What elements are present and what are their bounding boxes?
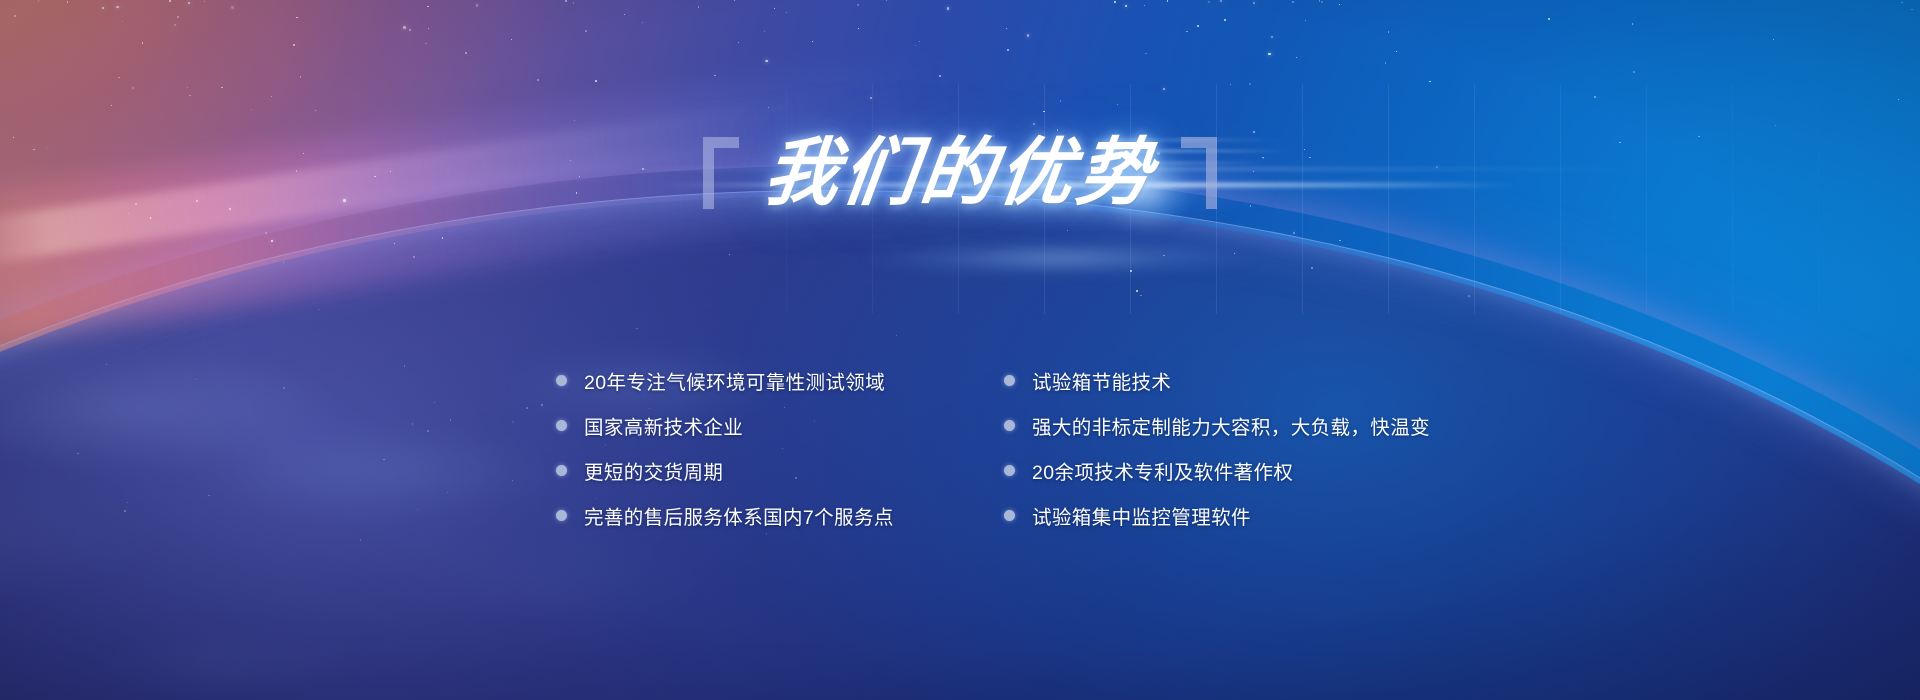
bullet-dot-icon	[556, 465, 567, 476]
advantage-item: 更短的交货周期	[556, 448, 936, 493]
bullet-dot-icon	[556, 510, 567, 521]
advantage-label: 20年专注气候环境可靠性测试领域	[584, 366, 885, 395]
advantage-label: 国家高新技术企业	[584, 411, 743, 440]
advantage-item: 试验箱集中监控管理软件	[1004, 493, 1516, 538]
bullet-dot-icon	[1004, 465, 1015, 476]
advantages-column-right: 试验箱节能技术 强大的非标定制能力大容积，大负载，快温变 20余项技术专利及软件…	[1004, 358, 1516, 538]
advantage-label: 试验箱节能技术	[1032, 366, 1171, 395]
advantages-column-left: 20年专注气候环境可靠性测试领域 国家高新技术企业 更短的交货周期 完善的售后服…	[556, 358, 936, 538]
advantage-item: 试验箱节能技术	[1004, 358, 1516, 403]
advantage-item: 20余项技术专利及软件著作权	[1004, 448, 1516, 493]
advantages-columns: 20年专注气候环境可靠性测试领域 国家高新技术企业 更短的交货周期 完善的售后服…	[556, 358, 1516, 538]
advantage-label: 更短的交货周期	[584, 456, 723, 485]
bullet-dot-icon	[556, 375, 567, 386]
advantage-label: 试验箱集中监控管理软件	[1032, 501, 1251, 530]
lens-flare-underglow	[800, 238, 1320, 278]
bullet-dot-icon	[1004, 420, 1015, 431]
advantage-label: 20余项技术专利及软件著作权	[1032, 456, 1293, 485]
advantage-label: 完善的售后服务体系国内7个服务点	[584, 501, 894, 530]
advantage-item: 完善的售后服务体系国内7个服务点	[556, 493, 936, 538]
advantage-item: 20年专注气候环境可靠性测试领域	[556, 358, 936, 403]
advantage-label: 强大的非标定制能力大容积，大负载，快温变	[1032, 411, 1430, 440]
lens-flare-streak-upper	[560, 168, 1640, 170]
bullet-dot-icon	[556, 420, 567, 431]
lens-flare-streak	[660, 183, 1520, 187]
lens-flare-ray-a	[1060, 150, 1290, 152]
advantage-item: 国家高新技术企业	[556, 403, 936, 448]
bullet-dot-icon	[1004, 375, 1015, 386]
advantages-banner: 我们的优势 20年专注气候环境可靠性测试领域 国家高新技术企业 更短的交货周期 …	[0, 0, 1920, 700]
bullet-dot-icon	[1004, 510, 1015, 521]
lens-flare-ray-c	[1080, 139, 1280, 141]
lens-flare-ray-b	[1090, 162, 1270, 164]
lens-flare-beam	[1010, 128, 1280, 248]
advantage-item: 强大的非标定制能力大容积，大负载，快温变	[1004, 403, 1516, 448]
